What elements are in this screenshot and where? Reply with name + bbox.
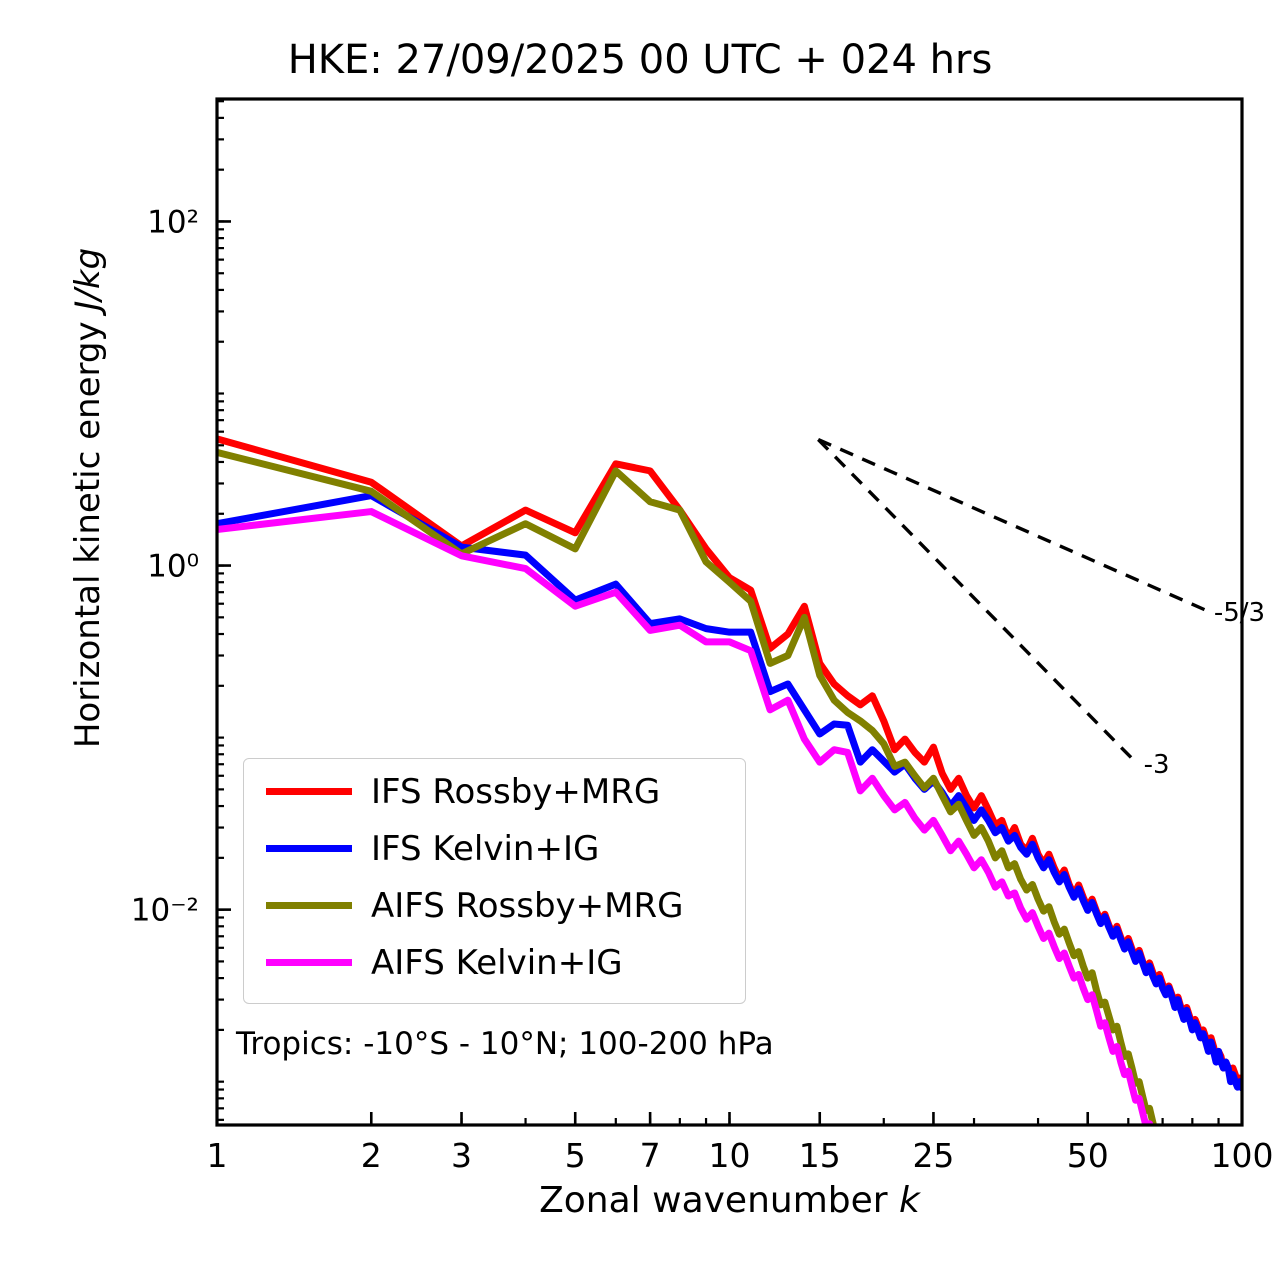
legend-swatch-icon [266,788,352,795]
region-annotation: Tropics: -10°S - 10°N; 100-200 hPa [236,1026,774,1062]
y-tick-label: 10⁰ [147,549,199,585]
x-tick-label: 50 [1067,1136,1109,1175]
x-tick-label: 7 [640,1136,661,1175]
legend-item-label: IFS Rossby+MRG [371,771,660,813]
slope-label--3: -3 [1144,750,1170,780]
chart-figure: HKE: 27/09/2025 00 UTC + 024 hrs Horizon… [0,0,1280,1288]
x-tick-label: 1 [207,1136,228,1175]
y-tick-label: 10⁻² [131,893,199,929]
legend-swatch-icon [266,959,352,966]
x-axis-label-text: Zonal wavenumber [539,1180,899,1221]
legend-item-label: AIFS Rossby+MRG [371,885,683,927]
legend-swatch-icon [266,902,352,909]
slope-line--5-3 [818,440,1206,611]
x-tick-label: 25 [912,1136,954,1175]
x-tick-label: 15 [799,1136,841,1175]
legend-item-3[interactable]: AIFS Kelvin+IG [244,938,747,988]
legend-item-2[interactable]: AIFS Rossby+MRG [244,881,747,931]
x-tick-label: 10 [709,1136,751,1175]
legend-item-label: AIFS Kelvin+IG [371,942,623,984]
x-tick-label: 100 [1211,1136,1274,1175]
x-axis-label-symbol: k [899,1180,920,1221]
legend: IFS Rossby+MRGIFS Kelvin+IGAIFS Rossby+M… [243,758,746,1004]
x-axis-label: Zonal wavenumber k [217,1180,1242,1221]
legend-item-0[interactable]: IFS Rossby+MRG [244,767,747,817]
legend-swatch-icon [266,845,352,852]
x-tick-label: 3 [451,1136,472,1175]
plot-canvas: 123571015255010010²10⁰10⁻²-5/3-3 [0,0,1280,1288]
x-tick-label: 2 [361,1136,382,1175]
slope-line--3 [818,440,1135,763]
y-tick-label: 10² [147,204,199,240]
x-tick-label: 5 [565,1136,586,1175]
slope-label--5-3: -5/3 [1214,598,1265,628]
legend-item-label: IFS Kelvin+IG [371,828,599,870]
legend-item-1[interactable]: IFS Kelvin+IG [244,824,747,874]
